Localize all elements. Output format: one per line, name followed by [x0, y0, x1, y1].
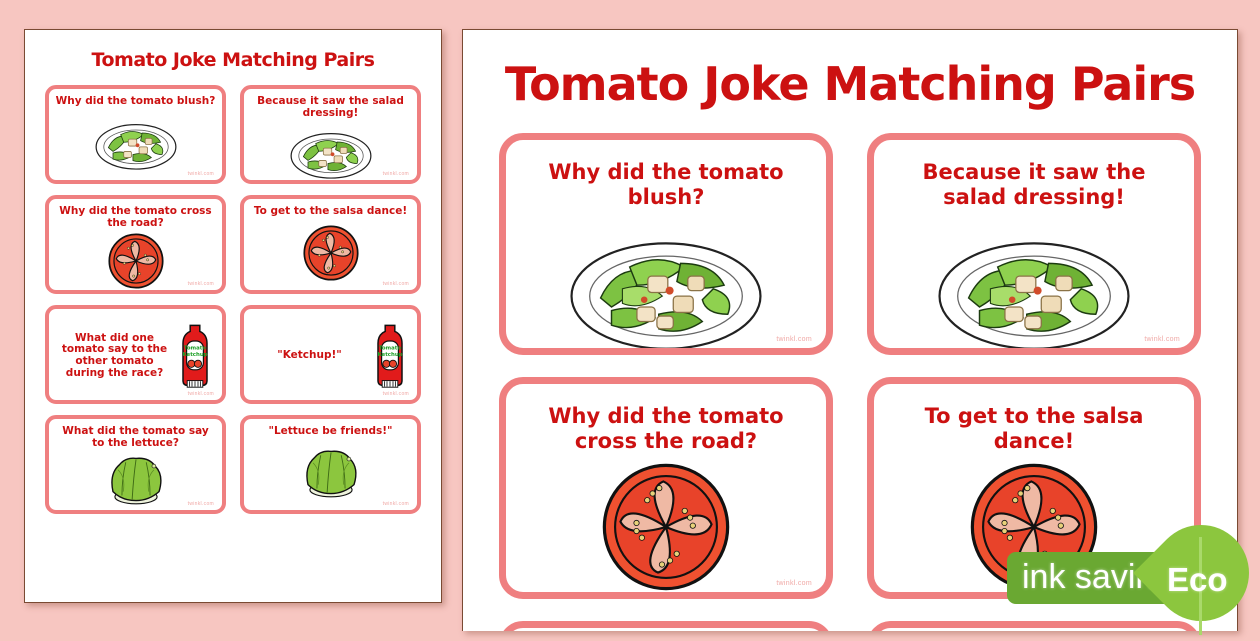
joke-card-text: Because it saw the salad dressing! [250, 96, 411, 120]
svg-text:Ketchup: Ketchup [182, 352, 207, 358]
watermark: twinkl.com [188, 391, 214, 397]
page-title-thumbnail: Tomato Joke Matching Pairs [25, 49, 441, 71]
joke-card[interactable]: To get to the salsa dance! [240, 195, 421, 294]
joke-card[interactable]: "Ketchup!" Tomato Ketchup [240, 305, 421, 404]
tomato-slice-illustration [599, 460, 733, 594]
card-grid-thumbnail: Why did the tomato blush? [25, 71, 441, 514]
joke-card-text: Why did the tomato blush? [520, 160, 812, 210]
joke-card[interactable]: Because it saw the salad dressing! [867, 133, 1201, 355]
joke-card-text: Why did the tomato cross the road? [520, 404, 812, 454]
ketchup-bottle-icon: Tomato Ketchup [174, 323, 216, 389]
ink-saving-eco-badge: ink saving Eco [1007, 525, 1260, 630]
watermark: twinkl.com [383, 391, 409, 397]
salad-plate-illustration [285, 122, 377, 182]
lettuce-illustration [299, 445, 363, 500]
salad-plate-illustration [925, 216, 1143, 355]
joke-card[interactable]: Why did the tomato cross the road? [45, 195, 226, 294]
watermark: twinkl.com [383, 171, 409, 177]
joke-card[interactable]: "Lettuce be friends!" twinkl.com [240, 415, 421, 514]
svg-text:Tomato: Tomato [184, 345, 206, 351]
watermark: twinkl.com [383, 501, 409, 507]
watermark: twinkl.com [188, 281, 214, 287]
salad-plate-icon [520, 216, 812, 355]
joke-card[interactable]: What did one tomato say to the other tom… [45, 305, 226, 404]
joke-card[interactable]: Why did the tomato blush? [45, 85, 226, 184]
lettuce-icon [250, 440, 411, 506]
joke-card-text: Why did the tomato blush? [56, 96, 216, 108]
ketchup-bottle-illustration: Tomato Ketchup [372, 323, 408, 389]
ketchup-bottle-illustration: Tomato Ketchup [177, 323, 213, 389]
joke-card[interactable]: Because it saw the salad dressing! [240, 85, 421, 184]
tomato-slice-icon [250, 220, 411, 286]
joke-card[interactable]: Why did the tomato cross the road? [499, 377, 833, 599]
joke-card-text: "Lettuce be friends!" [268, 426, 392, 438]
salad-plate-illustration [90, 113, 182, 173]
joke-card-text: "Ketchup!" [250, 350, 369, 362]
svg-text:Tomato: Tomato [379, 345, 401, 351]
watermark: twinkl.com [776, 580, 812, 587]
watermark: twinkl.com [188, 501, 214, 507]
ketchup-bottle-icon: Tomato Ketchup [369, 323, 411, 389]
tomato-slice-icon [520, 460, 812, 594]
tomato-slice-illustration [302, 224, 360, 282]
joke-card-text: To get to the salsa dance! [888, 404, 1180, 454]
tomato-slice-illustration [107, 232, 165, 290]
svg-text:Ketchup: Ketchup [377, 352, 402, 358]
lettuce-icon [55, 452, 216, 507]
salad-plate-icon [888, 216, 1180, 355]
watermark: twinkl.com [1144, 336, 1180, 343]
page-title-main: Tomato Joke Matching Pairs [463, 57, 1237, 111]
joke-card-text: Why did the tomato cross the road? [55, 206, 216, 230]
watermark: twinkl.com [188, 171, 214, 177]
poster-preview-stage: Tomato Joke Matching Pairs Why did the t… [0, 0, 1260, 630]
joke-card[interactable]: What did the tomato say to the lettuce? … [45, 415, 226, 514]
thumbnail-page[interactable]: Tomato Joke Matching Pairs Why did the t… [24, 29, 442, 603]
eco-label: Eco [1167, 561, 1228, 599]
salad-plate-icon [55, 110, 216, 176]
watermark: twinkl.com [383, 281, 409, 287]
joke-card-text: Because it saw the salad dressing! [888, 160, 1180, 210]
joke-card-text: What did one tomato say to the other tom… [55, 333, 174, 380]
joke-card-text: To get to the salsa dance! [254, 206, 407, 218]
lettuce-illustration [104, 452, 168, 507]
joke-card[interactable]: Why did the tomato blush? [499, 133, 833, 355]
salad-plate-illustration [557, 216, 775, 355]
watermark: twinkl.com [776, 336, 812, 343]
joke-card-text: What did the tomato say to the lettuce? [55, 426, 216, 450]
